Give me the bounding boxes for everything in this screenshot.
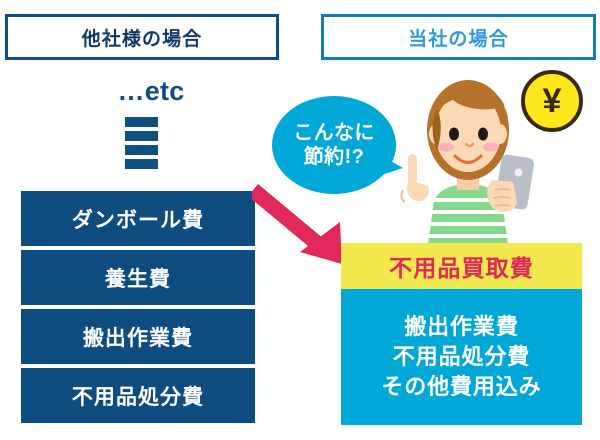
speech-bubble: こんなに 節約!?: [272, 96, 396, 194]
etc-bar: [125, 131, 158, 141]
our-company-cost-panel: 不用品買取費 搬出作業費 不用品処分費 その他費用込み: [341, 243, 582, 425]
included-service-item: 不用品処分費: [393, 342, 530, 372]
yen-symbol-icon: ¥: [521, 70, 583, 132]
etc-bar: [125, 159, 158, 169]
etc-bar-stack: [125, 117, 158, 173]
etc-label: …etc: [96, 78, 206, 105]
header-our-company-label: 当社の場合: [408, 24, 509, 51]
header-other-companies-label: 他社様の場合: [82, 24, 203, 51]
cost-item-box: 養生費: [21, 250, 255, 305]
speech-bubble-text: こんなに 節約!?: [272, 96, 396, 194]
eye-left: [449, 128, 459, 141]
header-our-company: 当社の場合: [321, 14, 596, 60]
pointing-hand: [401, 154, 429, 202]
speech-bubble-line-2: 節約!?: [304, 145, 364, 169]
cost-item-label: ダンボール費: [72, 204, 204, 234]
header-other-companies: 他社様の場合: [5, 14, 279, 60]
speech-bubble-line-1: こんなに: [293, 121, 375, 145]
eye-right: [478, 128, 488, 141]
comparison-infographic: 他社様の場合 当社の場合 …etc ダンボール費 養生費 搬出作業費 不用品処分…: [0, 0, 600, 440]
included-services-list: 搬出作業費 不用品処分費 その他費用込み: [341, 289, 582, 425]
yen-badge: ¥: [521, 70, 583, 132]
buyback-fee-title: 不用品買取費: [341, 243, 582, 289]
buyback-fee-title-label: 不用品買取費: [389, 249, 534, 283]
cost-item-label: 養生費: [105, 263, 171, 293]
cost-item-box: ダンボール費: [21, 191, 255, 246]
etc-bar: [125, 145, 158, 155]
included-service-item: その他費用込み: [381, 372, 541, 402]
cost-item-label: 不用品処分費: [72, 381, 204, 411]
etc-bar: [125, 117, 158, 127]
cost-item-label: 搬出作業費: [83, 322, 193, 352]
cost-item-box: 搬出作業費: [21, 309, 255, 364]
included-service-item: 搬出作業費: [404, 312, 518, 342]
cost-item-box: 不用品処分費: [21, 368, 255, 423]
